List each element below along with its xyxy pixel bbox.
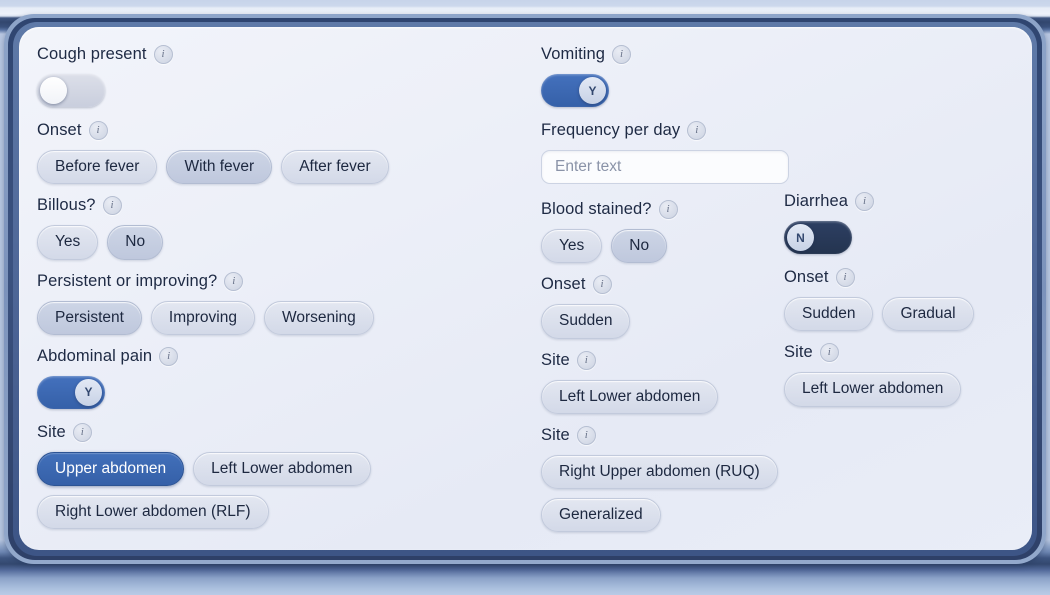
option-improving[interactable]: Improving [151, 301, 255, 335]
option-blood-stained-yes[interactable]: Yes [541, 229, 602, 263]
field-diarrhea-onset: Onset i Sudden Gradual [784, 268, 1024, 331]
frequency-per-day-input[interactable]: Enter text [541, 150, 789, 184]
field-vomiting: Vomiting i Y [541, 45, 789, 107]
info-icon[interactable]: i [687, 121, 706, 140]
option-blood-stained-no[interactable]: No [611, 229, 667, 263]
label-cough-present: Cough present i [37, 45, 537, 64]
info-icon[interactable]: i [855, 192, 874, 211]
label-persistence: Persistent or improving? i [37, 272, 537, 291]
label-frequency-per-day: Frequency per day i [541, 121, 789, 140]
option-before-fever[interactable]: Before fever [37, 150, 157, 184]
info-icon[interactable]: i [577, 351, 596, 370]
options-abdominal-pain-site: Upper abdomen Left Lower abdomen Right L… [37, 452, 417, 530]
field-diarrhea: Diarrhea i N [784, 192, 1024, 254]
column-middle: Vomiting i Y Frequency per day i Enter t… [541, 45, 789, 532]
toggle-knob [40, 77, 67, 104]
toggle-diarrhea[interactable]: N [784, 221, 852, 254]
vomiting-onset-label-text: Onset [541, 275, 586, 294]
site-label-text: Site [541, 351, 570, 370]
toggle-knob: Y [579, 77, 606, 104]
options-blood-stained: Yes No [541, 229, 789, 263]
option-persistent[interactable]: Persistent [37, 301, 142, 335]
option-vomiting-site-left-lower-abdomen[interactable]: Left Lower abdomen [541, 380, 718, 414]
diarrhea-label-text: Diarrhea [784, 192, 848, 211]
options-cough-onset: Before fever With fever After fever [37, 150, 537, 184]
field-vomiting-site-secondary: Site i Right Upper abdomen (RUQ) General… [541, 426, 789, 533]
info-icon[interactable]: i [154, 45, 173, 64]
field-persistence: Persistent or improving? i Persistent Im… [37, 272, 537, 335]
field-vomiting-onset: Onset i Sudden [541, 275, 789, 338]
label-billous: Billous? i [37, 196, 537, 215]
label-cough-onset: Onset i [37, 121, 537, 140]
info-icon[interactable]: i [577, 426, 596, 445]
label-vomiting-site-secondary: Site i [541, 426, 789, 445]
field-abdominal-pain: Abdominal pain i Y [37, 347, 537, 409]
info-icon[interactable]: i [73, 423, 92, 442]
option-right-upper-abdomen-ruq[interactable]: Right Upper abdomen (RUQ) [541, 455, 778, 489]
options-vomiting-site-secondary: Right Upper abdomen (RUQ) Generalized [541, 455, 789, 533]
cough-onset-label-text: Onset [37, 121, 82, 140]
frequency-label-text: Frequency per day [541, 121, 680, 140]
label-diarrhea: Diarrhea i [784, 192, 1024, 211]
field-frequency-per-day: Frequency per day i Enter text [541, 121, 789, 184]
field-diarrhea-site: Site i Left Lower abdomen [784, 343, 1024, 406]
info-icon[interactable]: i [159, 347, 178, 366]
abdominal-pain-label-text: Abdominal pain [37, 347, 152, 366]
persistence-label-text: Persistent or improving? [37, 272, 217, 291]
billous-label-text: Billous? [37, 196, 96, 215]
toggle-cough-present[interactable] [37, 74, 105, 107]
column-right: Diarrhea i N Onset i Sudden Gradual Site [784, 192, 1024, 407]
options-billous: Yes No [37, 225, 537, 259]
info-icon[interactable]: i [89, 121, 108, 140]
info-icon[interactable]: i [593, 275, 612, 294]
option-billous-no[interactable]: No [107, 225, 163, 259]
option-diarrhea-onset-gradual[interactable]: Gradual [882, 297, 973, 331]
form-card: Cough present i Onset i Before fever Wit… [19, 27, 1032, 550]
option-upper-abdomen[interactable]: Upper abdomen [37, 452, 184, 486]
field-billous: Billous? i Yes No [37, 196, 537, 259]
info-icon[interactable]: i [224, 272, 243, 291]
field-abdominal-pain-site: Site i Upper abdomen Left Lower abdomen … [37, 423, 537, 530]
toggle-knob: N [787, 224, 814, 251]
field-vomiting-site: Site i Left Lower abdomen [541, 351, 789, 414]
vomiting-label-text: Vomiting [541, 45, 605, 64]
option-diarrhea-site-left-lower-abdomen[interactable]: Left Lower abdomen [784, 372, 961, 406]
options-vomiting-site: Left Lower abdomen [541, 380, 789, 414]
toggle-abdominal-pain[interactable]: Y [37, 376, 105, 409]
label-vomiting-onset: Onset i [541, 275, 789, 294]
label-diarrhea-onset: Onset i [784, 268, 1024, 287]
option-billous-yes[interactable]: Yes [37, 225, 98, 259]
option-left-lower-abdomen[interactable]: Left Lower abdomen [193, 452, 370, 486]
option-diarrhea-onset-sudden[interactable]: Sudden [784, 297, 873, 331]
label-vomiting-site: Site i [541, 351, 789, 370]
label-abdominal-pain: Abdominal pain i [37, 347, 537, 366]
label-diarrhea-site: Site i [784, 343, 1024, 362]
options-vomiting-onset: Sudden [541, 304, 789, 338]
label-vomiting: Vomiting i [541, 45, 789, 64]
toggle-vomiting[interactable]: Y [541, 74, 609, 107]
diarrhea-onset-label-text: Onset [784, 268, 829, 287]
options-diarrhea-onset: Sudden Gradual [784, 297, 1024, 331]
info-icon[interactable]: i [103, 196, 122, 215]
label-abdominal-pain-site: Site i [37, 423, 537, 442]
option-with-fever[interactable]: With fever [166, 150, 272, 184]
blood-stained-label-text: Blood stained? [541, 200, 652, 219]
field-cough-present: Cough present i [37, 45, 537, 107]
site-label-text: Site [37, 423, 66, 442]
label-blood-stained: Blood stained? i [541, 200, 789, 219]
site-label-text: Site [541, 426, 570, 445]
column-left: Cough present i Onset i Before fever Wit… [37, 45, 537, 529]
info-icon[interactable]: i [820, 343, 839, 362]
info-icon[interactable]: i [612, 45, 631, 64]
toggle-knob: Y [75, 379, 102, 406]
option-generalized[interactable]: Generalized [541, 498, 661, 532]
option-after-fever[interactable]: After fever [281, 150, 389, 184]
info-icon[interactable]: i [836, 268, 855, 287]
site-label-text: Site [784, 343, 813, 362]
field-blood-stained: Blood stained? i Yes No [541, 200, 789, 263]
info-icon[interactable]: i [659, 200, 678, 219]
field-cough-onset: Onset i Before fever With fever After fe… [37, 121, 537, 184]
option-right-lower-abdomen-rlf[interactable]: Right Lower abdomen (RLF) [37, 495, 269, 529]
option-vomiting-onset-sudden[interactable]: Sudden [541, 304, 630, 338]
options-diarrhea-site: Left Lower abdomen [784, 372, 1024, 406]
option-worsening[interactable]: Worsening [264, 301, 374, 335]
options-persistence: Persistent Improving Worsening [37, 301, 537, 335]
cough-present-label-text: Cough present [37, 45, 147, 64]
